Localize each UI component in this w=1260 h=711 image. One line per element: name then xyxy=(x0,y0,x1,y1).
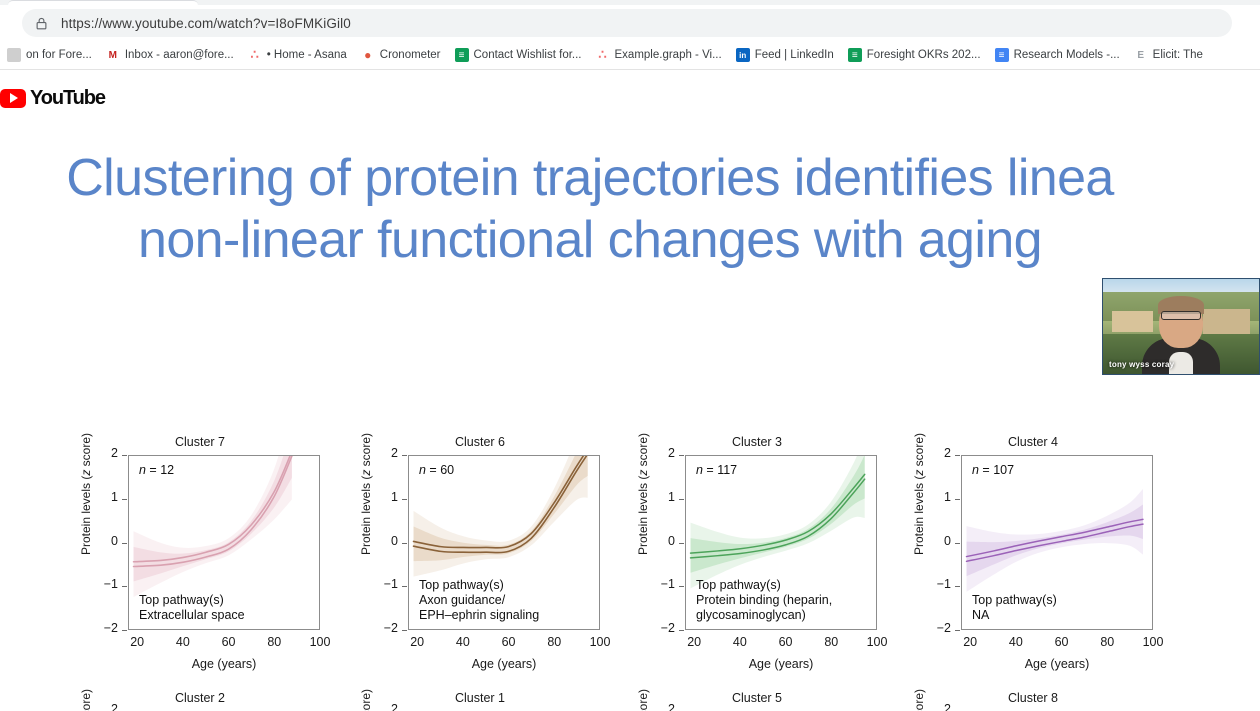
y-axis-tick-mark xyxy=(955,499,960,500)
pip-building-right xyxy=(1203,309,1250,334)
bookmark-item[interactable]: ≡Foresight OKRs 202... xyxy=(841,44,988,66)
cluster-panel: Cluster 1Protein levels (z score)210−1−2… xyxy=(340,691,620,711)
x-axis-label: Age (years) xyxy=(685,657,877,671)
cronometer-icon: ● xyxy=(361,48,375,62)
x-axis-tick-label: 60 xyxy=(1045,635,1079,649)
y-axis-tick-label: 2 xyxy=(68,446,118,460)
slide-title-line-1: Clustering of protein trajectories ident… xyxy=(66,149,1114,207)
speaker-webcam-overlay: tony wyss coray xyxy=(1102,278,1260,375)
x-axis-tick-label: 40 xyxy=(166,635,200,649)
y-axis-tick-label: 2 xyxy=(68,702,118,711)
y-axis-tick-label: 1 xyxy=(68,490,118,504)
bookmark-item[interactable]: ∴• Home - Asana xyxy=(241,44,354,66)
bookmark-label: Elicit: The xyxy=(1153,44,1203,66)
google-docs-icon: ≡ xyxy=(995,48,1009,62)
plot-area: n = 117Top pathway(s)Protein binding (he… xyxy=(685,455,877,630)
y-axis-tick-label: −1 xyxy=(68,577,118,591)
x-axis-tick-label: 60 xyxy=(212,635,246,649)
x-axis-tick-label: 100 xyxy=(583,635,617,649)
bookmark-label: Cronometer xyxy=(380,44,441,66)
pathway-name: Axon guidance/ xyxy=(419,593,539,608)
youtube-play-icon xyxy=(0,89,26,108)
x-axis-tick-label: 20 xyxy=(120,635,154,649)
google-sheets-icon: ≡ xyxy=(455,48,469,62)
y-axis-tick-mark xyxy=(122,499,127,500)
bookmark-item[interactable]: ≡Contact Wishlist for... xyxy=(448,44,589,66)
pathway-name: EPH–ephrin signaling xyxy=(419,608,539,623)
address-bar[interactable]: https://www.youtube.com/watch?v=I8oFMKiG… xyxy=(22,9,1232,37)
y-axis-tick-label: −2 xyxy=(901,621,951,635)
youtube-wordmark: YouTube xyxy=(30,88,105,108)
y-axis-tick-label: 0 xyxy=(901,534,951,548)
y-axis-tick-mark xyxy=(679,455,684,456)
x-axis-tick-label: 80 xyxy=(257,635,291,649)
pathway-heading: Top pathway(s) xyxy=(696,578,832,593)
bookmark-label: Feed | LinkedIn xyxy=(755,44,834,66)
y-axis-tick-label: 2 xyxy=(901,702,951,711)
x-axis-label: Age (years) xyxy=(408,657,600,671)
x-axis-tick-label: 20 xyxy=(677,635,711,649)
y-axis-tick-label: 2 xyxy=(348,702,398,711)
cluster-panel: Cluster 3Protein levels (z score)210−1−2… xyxy=(617,435,897,691)
y-axis-tick-mark xyxy=(955,586,960,587)
top-pathway-text: Top pathway(s)Protein binding (heparin,g… xyxy=(696,578,832,622)
y-axis-tick-mark xyxy=(402,543,407,544)
google-sheets-icon: ≡ xyxy=(848,48,862,62)
y-axis-tick-label: −1 xyxy=(348,577,398,591)
y-axis-tick-mark xyxy=(402,630,407,631)
youtube-masthead: YouTube xyxy=(0,70,1260,130)
top-pathway-text: Top pathway(s)NA xyxy=(972,593,1057,623)
top-pathway-text: Top pathway(s)Extracellular space xyxy=(139,593,245,623)
x-axis-tick-label: 40 xyxy=(723,635,757,649)
bookmark-item[interactable]: ∴Example.graph - Vi... xyxy=(589,44,729,66)
y-axis-tick-label: −2 xyxy=(625,621,675,635)
plot-area: n = 60Top pathway(s)Axon guidance/EPH–ep… xyxy=(408,455,600,630)
y-axis-tick-mark xyxy=(122,543,127,544)
bookmark-item[interactable]: ●Cronometer xyxy=(354,44,448,66)
y-axis-tick-mark xyxy=(402,499,407,500)
y-axis-tick-label: 2 xyxy=(348,446,398,460)
y-axis-tick-mark xyxy=(402,455,407,456)
y-axis-tick-mark xyxy=(402,586,407,587)
y-axis-tick-label: 0 xyxy=(348,534,398,548)
sample-size-label: n = 117 xyxy=(696,463,737,477)
bookmark-label: • Home - Asana xyxy=(267,44,347,66)
generic-favicon xyxy=(7,48,21,62)
top-pathway-text: Top pathway(s)Axon guidance/EPH–ephrin s… xyxy=(419,578,539,622)
y-axis-tick-mark xyxy=(679,499,684,500)
lock-icon[interactable] xyxy=(34,16,49,31)
bookmark-item[interactable]: inFeed | LinkedIn xyxy=(729,44,841,66)
asana-icon: ∴ xyxy=(248,48,262,62)
pathway-heading: Top pathway(s) xyxy=(419,578,539,593)
address-bar-url: https://www.youtube.com/watch?v=I8oFMKiG… xyxy=(61,16,351,31)
slide-title: Clustering of protein trajectories ident… xyxy=(0,148,1180,271)
sample-size-label: n = 60 xyxy=(419,463,454,477)
pathway-name: Extracellular space xyxy=(139,608,245,623)
sample-size-label: n = 12 xyxy=(139,463,174,477)
x-axis-label: Age (years) xyxy=(128,657,320,671)
cluster-panel: Cluster 4Protein levels (z score)210−1−2… xyxy=(893,435,1173,691)
y-axis-tick-mark xyxy=(955,630,960,631)
pathway-name: NA xyxy=(972,608,1057,623)
x-axis-label: Age (years) xyxy=(961,657,1153,671)
y-axis-tick-label: −1 xyxy=(625,577,675,591)
x-axis-tick-label: 80 xyxy=(537,635,571,649)
y-axis-tick-mark xyxy=(122,586,127,587)
x-axis-tick-label: 80 xyxy=(814,635,848,649)
x-axis-tick-label: 80 xyxy=(1090,635,1124,649)
y-axis-tick-label: −1 xyxy=(901,577,951,591)
sample-size-label: n = 107 xyxy=(972,463,1014,477)
y-axis-tick-label: 1 xyxy=(901,490,951,504)
x-axis-tick-label: 20 xyxy=(953,635,987,649)
bookmark-label: on for Fore... xyxy=(26,44,92,66)
y-axis-tick-mark xyxy=(122,630,127,631)
y-axis-tick-label: 2 xyxy=(625,446,675,460)
pathway-heading: Top pathway(s) xyxy=(139,593,245,608)
pathway-heading: Top pathway(s) xyxy=(972,593,1057,608)
cluster-panel: Cluster 7Protein levels (z score)210−1−2… xyxy=(60,435,340,691)
bookmark-label: Example.graph - Vi... xyxy=(615,44,722,66)
bookmark-label: Research Models -... xyxy=(1014,44,1120,66)
omnibox-row: https://www.youtube.com/watch?v=I8oFMKiG… xyxy=(0,5,1260,41)
cluster-panel: Cluster 6Protein levels (z score)210−1−2… xyxy=(340,435,620,691)
x-axis-tick-label: 100 xyxy=(303,635,337,649)
y-axis-tick-label: 1 xyxy=(348,490,398,504)
confidence-band-outer xyxy=(134,456,292,597)
y-axis-tick-mark xyxy=(679,630,684,631)
slide-title-line-2: non-linear functional changes with aging xyxy=(0,210,1180,270)
pathway-name: glycosaminoglycan) xyxy=(696,608,832,623)
bookmarks-bar[interactable]: on for Fore...MInbox - aaron@fore...∴• H… xyxy=(0,41,1260,69)
bookmark-item[interactable]: on for Fore... xyxy=(0,44,99,66)
y-axis-tick-label: 0 xyxy=(625,534,675,548)
bookmark-label: Foresight OKRs 202... xyxy=(867,44,981,66)
elicit-icon: E xyxy=(1134,48,1148,62)
x-axis-tick-label: 60 xyxy=(492,635,526,649)
x-axis-tick-label: 100 xyxy=(1136,635,1170,649)
video-player-stage[interactable]: Clustering of protein trajectories ident… xyxy=(0,130,1260,711)
pathway-name: Protein binding (heparin, xyxy=(696,593,832,608)
cluster-panel: Cluster 8Protein levels (z score)210−1−2… xyxy=(893,691,1173,711)
y-axis-tick-label: −2 xyxy=(348,621,398,635)
x-axis-tick-label: 40 xyxy=(446,635,480,649)
youtube-logo[interactable]: YouTube xyxy=(0,88,105,108)
y-axis-tick-label: 0 xyxy=(68,534,118,548)
y-axis-tick-label: 1 xyxy=(625,490,675,504)
x-axis-tick-label: 20 xyxy=(400,635,434,649)
pip-building-left xyxy=(1112,311,1153,332)
cluster-panel: Cluster 2Protein levels (z score)210−1−2… xyxy=(60,691,340,711)
y-axis-tick-mark xyxy=(955,455,960,456)
linkedin-icon: in xyxy=(736,48,750,62)
speaker-name-caption: tony wyss coray xyxy=(1103,360,1259,369)
bookmark-label: Inbox - aaron@fore... xyxy=(125,44,234,66)
x-axis-tick-label: 60 xyxy=(769,635,803,649)
y-axis-tick-mark xyxy=(122,455,127,456)
x-axis-tick-label: 100 xyxy=(860,635,894,649)
gmail-icon: M xyxy=(106,48,120,62)
bookmark-label: Contact Wishlist for... xyxy=(474,44,582,66)
plot-area: n = 107Top pathway(s)NA xyxy=(961,455,1153,630)
y-axis-tick-label: −2 xyxy=(68,621,118,635)
y-axis-tick-mark xyxy=(679,543,684,544)
bookmark-item[interactable]: ≡Research Models -... xyxy=(988,44,1127,66)
y-axis-tick-mark xyxy=(679,586,684,587)
bookmark-item[interactable]: MInbox - aaron@fore... xyxy=(99,44,241,66)
cluster-panel: Cluster 5Protein levels (z score)210−1−2… xyxy=(617,691,897,711)
glasses-icon xyxy=(1161,311,1201,320)
x-axis-tick-label: 40 xyxy=(999,635,1033,649)
y-axis-tick-label: 2 xyxy=(901,446,951,460)
plot-area: n = 12Top pathway(s)Extracellular space xyxy=(128,455,320,630)
bookmark-item[interactable]: EElicit: The xyxy=(1127,44,1210,66)
graph-icon: ∴ xyxy=(596,48,610,62)
y-axis-tick-label: 2 xyxy=(625,702,675,711)
y-axis-tick-mark xyxy=(955,543,960,544)
